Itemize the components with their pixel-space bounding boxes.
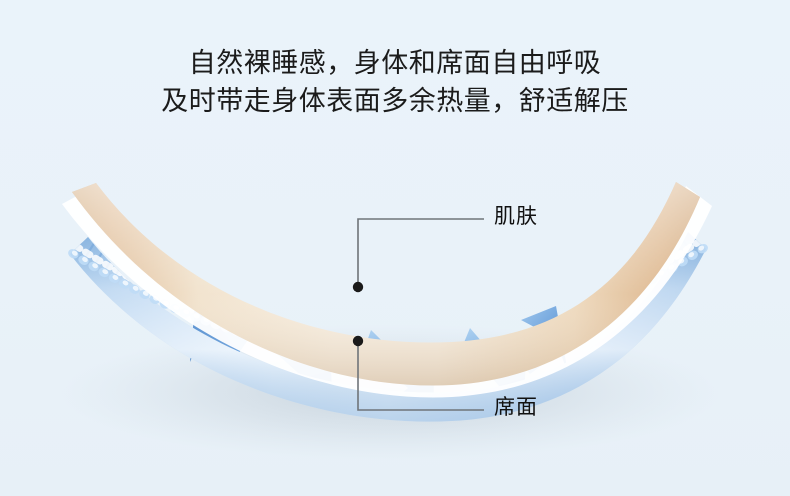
callout-skin-leader: [353, 219, 484, 292]
product-feature-slide: 自然裸睡感，身体和席面自由呼吸 及时带走身体表面多余热量，舒适解压: [0, 0, 790, 496]
mat-cross-section-illustration: [0, 0, 790, 496]
callout-label-skin: 肌肤: [494, 205, 538, 229]
callout-label-mat: 席面: [494, 396, 538, 420]
